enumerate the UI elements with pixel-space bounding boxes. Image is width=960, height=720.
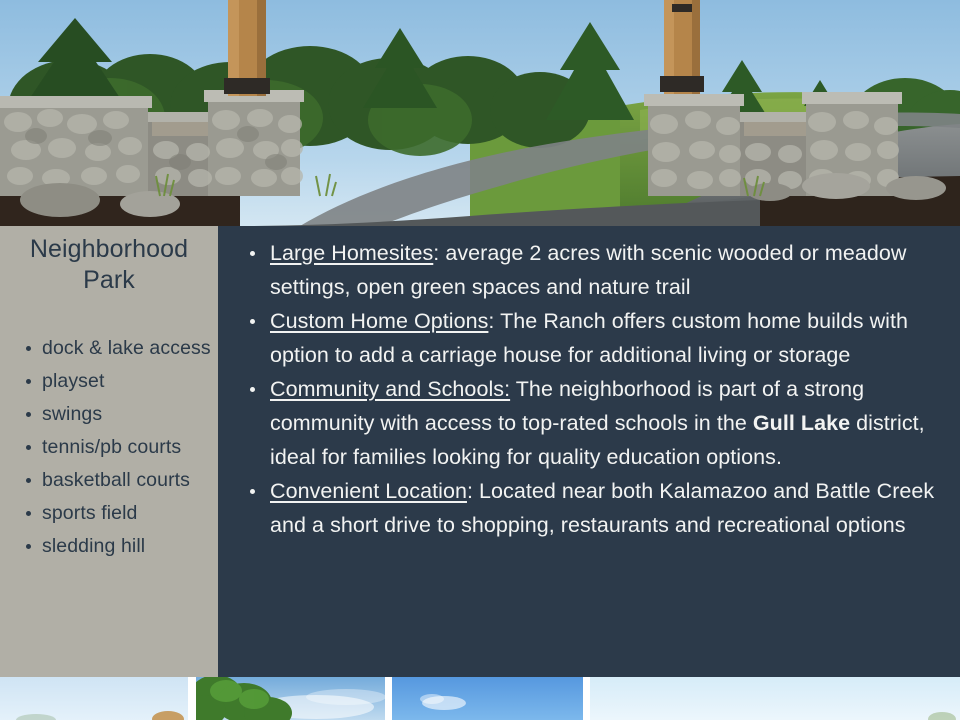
list-item: sports field xyxy=(26,497,212,530)
thumbnail-tree-cloud[interactable] xyxy=(196,677,385,720)
hero-illustration xyxy=(0,0,960,226)
list-item: playset xyxy=(26,365,212,398)
thumbnail-sky-left[interactable] xyxy=(0,677,188,720)
feature-lead: Custom Home Options xyxy=(270,309,488,333)
list-item: tennis/pb courts xyxy=(26,431,212,464)
feature-lead: Community and Schools: xyxy=(270,377,510,401)
content-panel: Neighborhood Park dock & lake access pla… xyxy=(0,226,960,677)
features-list: Large Homesites: average 2 acres with sc… xyxy=(228,236,942,542)
slide-root: Neighborhood Park dock & lake access pla… xyxy=(0,0,960,720)
thumbnail-image xyxy=(0,677,188,720)
feature-separator: : xyxy=(488,309,500,333)
feature-separator: : xyxy=(433,241,445,265)
list-item: Large Homesites: average 2 acres with sc… xyxy=(250,236,942,304)
main-features-panel: Large Homesites: average 2 acres with sc… xyxy=(218,226,960,677)
list-item: swings xyxy=(26,398,212,431)
hero-photo xyxy=(0,0,960,226)
thumbnail-strip xyxy=(0,677,960,720)
list-item: basketball courts xyxy=(26,464,212,497)
feature-lead: Convenient Location xyxy=(270,479,467,503)
list-item: Convenient Location: Located near both K… xyxy=(250,474,942,542)
feature-separator: : xyxy=(467,479,479,503)
thumbnail-image xyxy=(392,677,583,720)
sidebar-neighborhood-park: Neighborhood Park dock & lake access pla… xyxy=(0,226,218,677)
list-item: sledding hill xyxy=(26,530,212,563)
thumbnail-blue-sky[interactable] xyxy=(392,677,583,720)
list-item: Custom Home Options: The Ranch offers cu… xyxy=(250,304,942,372)
feature-lead: Large Homesites xyxy=(270,241,433,265)
list-item: Community and Schools: The neighborhood … xyxy=(250,372,942,474)
thumbnail-image xyxy=(590,677,960,720)
sidebar-amenities-list: dock & lake access playset swings tennis… xyxy=(6,332,212,563)
sidebar-title: Neighborhood Park xyxy=(6,234,212,296)
thumbnail-pale-sky[interactable] xyxy=(590,677,960,720)
list-item: dock & lake access xyxy=(26,332,212,365)
feature-emphasis: Gull Lake xyxy=(753,411,850,435)
thumbnail-image xyxy=(196,677,385,720)
